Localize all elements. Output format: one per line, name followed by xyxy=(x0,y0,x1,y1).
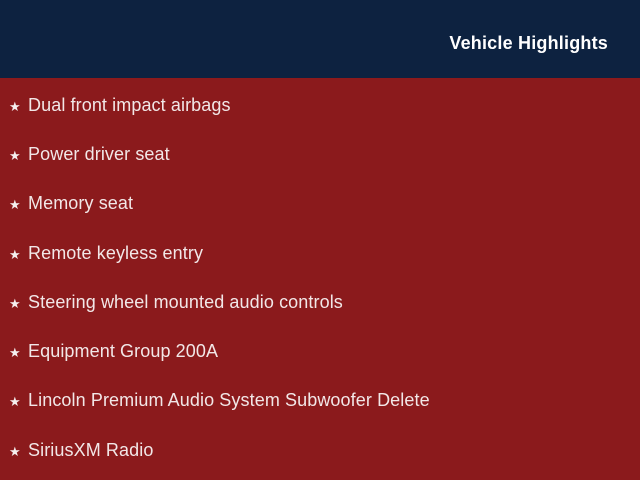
star-icon: ★ xyxy=(9,297,28,310)
star-icon: ★ xyxy=(9,445,28,458)
page-title: Vehicle Highlights xyxy=(449,34,608,52)
header-bar: Vehicle Highlights xyxy=(0,0,640,78)
list-item-label: Memory seat xyxy=(28,194,133,214)
list-item-label: Power driver seat xyxy=(28,145,170,165)
list-item-label: Dual front impact airbags xyxy=(28,96,231,116)
list-item-label: Equipment Group 200A xyxy=(28,342,218,362)
star-icon: ★ xyxy=(9,248,28,261)
list-item: ★ Equipment Group 200A xyxy=(9,340,640,364)
list-item: ★ Memory seat xyxy=(9,192,640,216)
list-item: ★ Remote keyless entry xyxy=(9,242,640,266)
list-item: ★ SiriusXM Radio xyxy=(9,439,640,463)
star-icon: ★ xyxy=(9,346,28,359)
vehicle-highlights-slide: Vehicle Highlights ★ Dual front impact a… xyxy=(0,0,640,480)
star-icon: ★ xyxy=(9,395,28,408)
vehicle-highlights-list: ★ Dual front impact airbags ★ Power driv… xyxy=(0,78,640,480)
star-icon: ★ xyxy=(9,149,28,162)
list-item: ★ Steering wheel mounted audio controls xyxy=(9,291,640,315)
list-item: ★ Lincoln Premium Audio System Subwoofer… xyxy=(9,389,640,413)
list-item-label: Steering wheel mounted audio controls xyxy=(28,293,343,313)
list-item: ★ Power driver seat xyxy=(9,143,640,167)
list-item-label: SiriusXM Radio xyxy=(28,441,153,461)
star-icon: ★ xyxy=(9,100,28,113)
list-item-label: Remote keyless entry xyxy=(28,244,203,264)
list-item-label: Lincoln Premium Audio System Subwoofer D… xyxy=(28,391,430,411)
star-icon: ★ xyxy=(9,198,28,211)
list-item: ★ Dual front impact airbags xyxy=(9,94,640,118)
